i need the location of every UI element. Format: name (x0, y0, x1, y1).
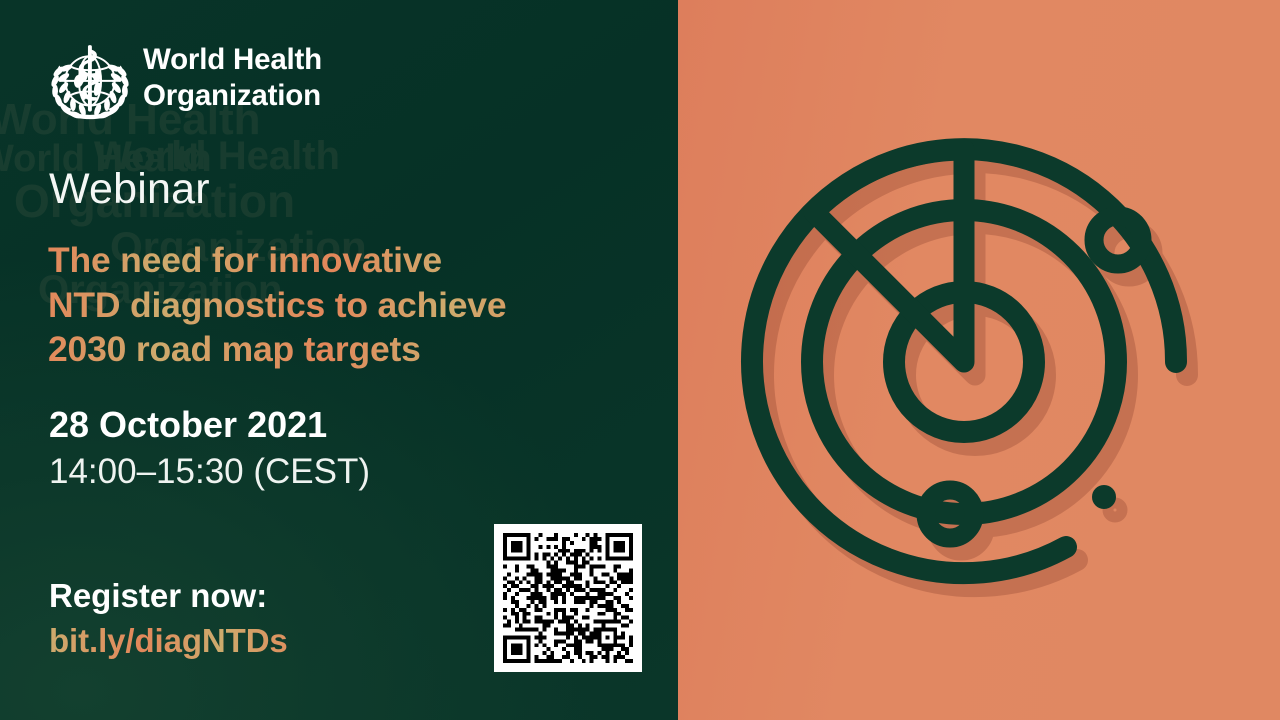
register-label: Register now: (49, 577, 267, 615)
left-info-panel: World Health World Health Organization O… (0, 0, 678, 720)
register-url[interactable]: bit.ly/diagNTDs (49, 622, 288, 660)
who-logo: World Health Organization (47, 40, 327, 118)
event-title-line: NTD diagnostics to achieve (48, 283, 648, 328)
event-title-line: The need for innovative (48, 238, 648, 283)
who-wordmark-line1: World Health (143, 42, 322, 78)
event-date: 28 October 2021 (49, 404, 327, 446)
who-emblem-icon (47, 40, 133, 120)
event-time: 14:00–15:30 (CEST) (49, 452, 370, 492)
qr-code[interactable] (494, 524, 642, 672)
webinar-kicker: Webinar (49, 165, 210, 214)
event-title: The need for innovative NTD diagnostics … (48, 238, 648, 372)
event-title-line: 2030 road map targets (48, 327, 648, 372)
who-wordmark-line2: Organization (143, 78, 322, 114)
qr-canvas (503, 533, 633, 663)
who-wordmark: World Health Organization (143, 42, 322, 114)
radar-icon (714, 112, 1214, 612)
webinar-poster: World Health World Health Organization O… (0, 0, 1280, 720)
right-illustration-panel (678, 0, 1280, 720)
